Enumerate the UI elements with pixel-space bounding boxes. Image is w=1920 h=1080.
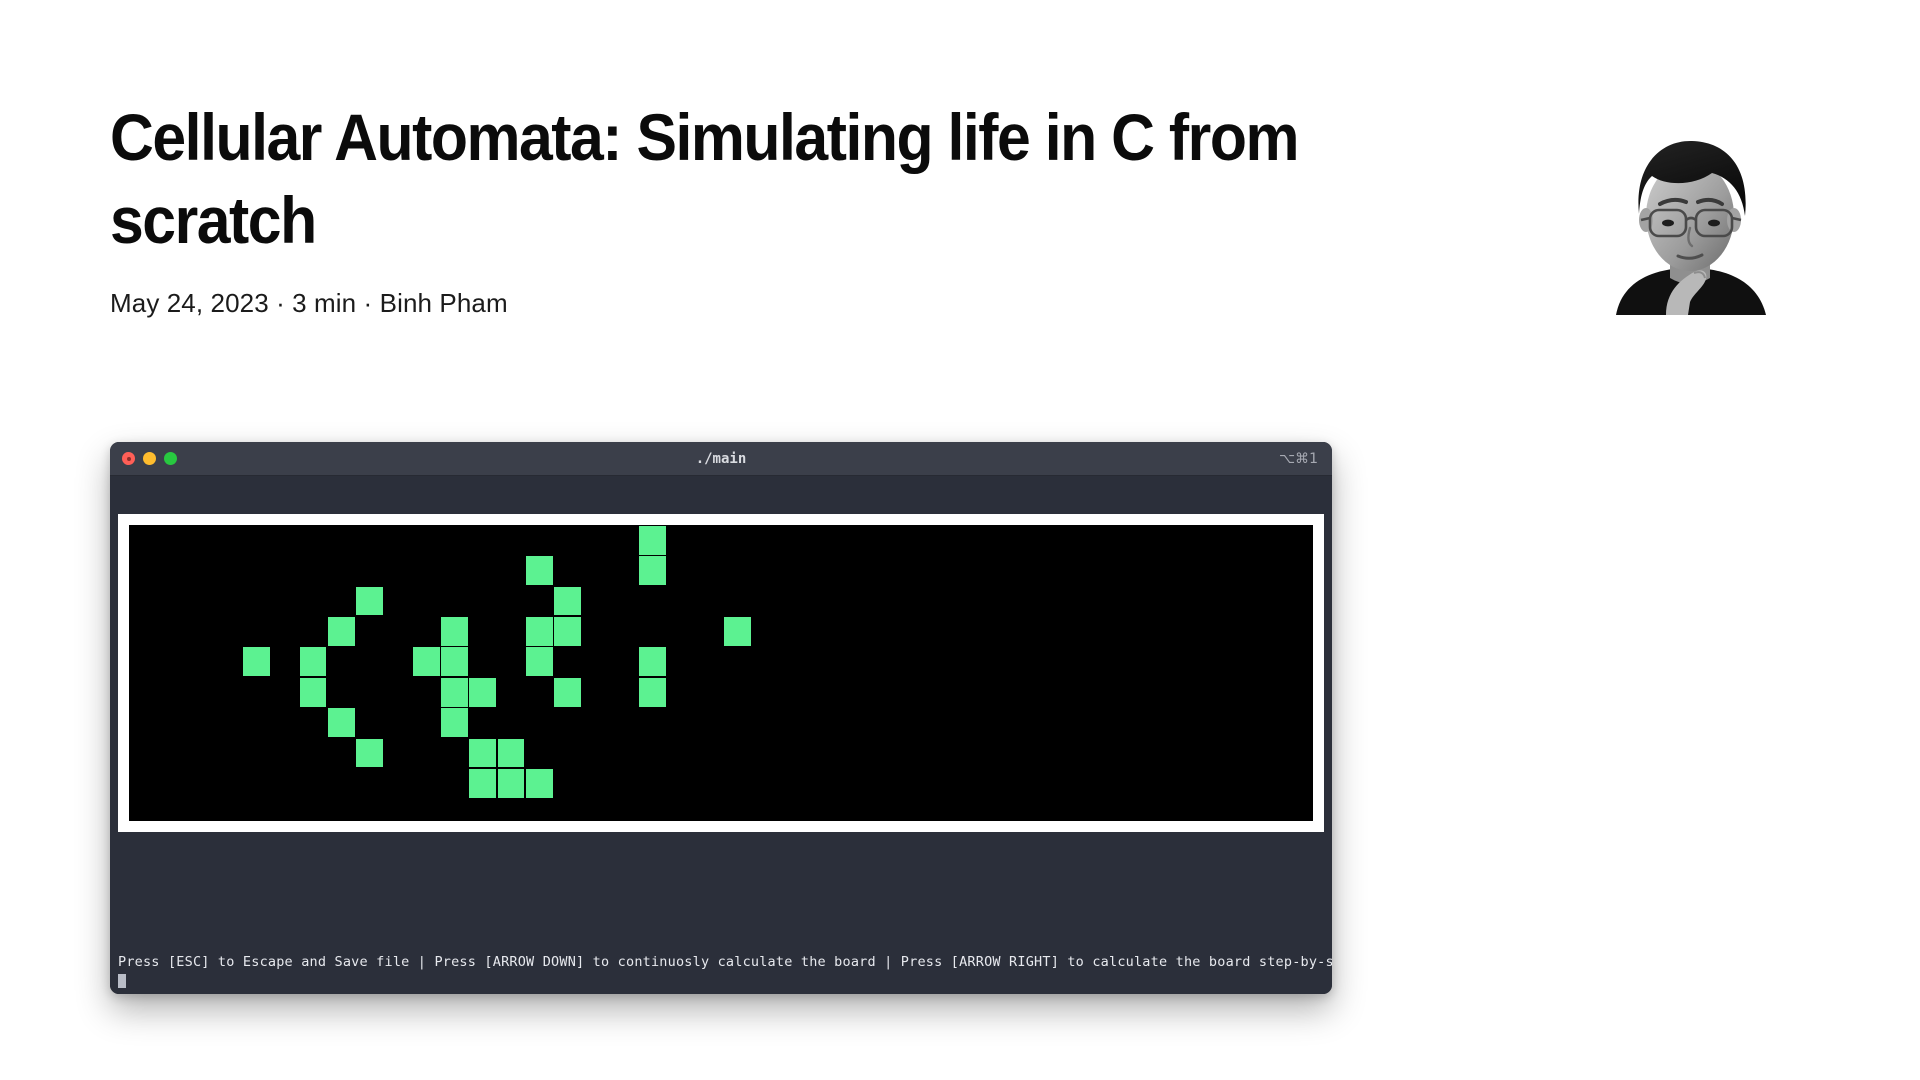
life-cell — [526, 647, 553, 676]
life-cell — [441, 647, 468, 676]
life-cell — [441, 708, 468, 737]
status-text: Press [ESC] to Escape and Save file | Pr… — [118, 954, 1324, 970]
life-cell — [413, 647, 440, 676]
life-cell — [300, 678, 327, 707]
board-frame — [118, 514, 1324, 832]
life-cell — [554, 617, 581, 646]
article-page: Cellular Automata: Simulating life in C … — [0, 0, 1920, 1080]
terminal-window[interactable]: ./main ⌥⌘1 Press [ESC] to Escape and Sav… — [110, 442, 1332, 994]
avatar — [1608, 130, 1773, 315]
life-cell — [554, 678, 581, 707]
status-area: Press [ESC] to Escape and Save file | Pr… — [118, 954, 1324, 988]
life-board[interactable] — [129, 525, 1313, 821]
terminal-titlebar[interactable]: ./main ⌥⌘1 — [110, 442, 1332, 476]
page-title: Cellular Automata: Simulating life in C … — [110, 96, 1306, 262]
life-cell — [639, 526, 666, 555]
life-cell — [724, 617, 751, 646]
life-cell — [441, 617, 468, 646]
life-cell — [639, 678, 666, 707]
terminal-shortcut-badge: ⌥⌘1 — [1279, 442, 1318, 476]
life-cell — [639, 647, 666, 676]
window-controls[interactable] — [122, 452, 177, 465]
life-cell — [554, 587, 581, 616]
life-cell — [639, 556, 666, 585]
life-cell — [356, 739, 383, 768]
life-cell — [243, 647, 270, 676]
terminal-cursor — [118, 974, 126, 988]
terminal-body[interactable]: Press [ESC] to Escape and Save file | Pr… — [110, 476, 1332, 994]
life-cell — [498, 739, 525, 768]
life-cell — [328, 617, 355, 646]
minimize-icon[interactable] — [143, 452, 156, 465]
life-cell — [300, 647, 327, 676]
article-meta: May 24, 2023 · 3 min · Binh Pham — [110, 288, 1540, 319]
life-cell — [469, 769, 496, 798]
life-cell — [526, 556, 553, 585]
zoom-icon[interactable] — [164, 452, 177, 465]
article-header: Cellular Automata: Simulating life in C … — [110, 96, 1810, 319]
life-cell — [498, 769, 525, 798]
life-cell — [526, 617, 553, 646]
life-cell — [441, 678, 468, 707]
avatar-portrait-icon — [1608, 130, 1773, 315]
life-cell — [356, 587, 383, 616]
terminal-title: ./main — [110, 442, 1332, 476]
life-cell — [328, 708, 355, 737]
life-cell — [526, 769, 553, 798]
life-cell — [469, 678, 496, 707]
life-cell — [469, 739, 496, 768]
close-icon[interactable] — [122, 452, 135, 465]
header-text-block: Cellular Automata: Simulating life in C … — [110, 96, 1540, 319]
